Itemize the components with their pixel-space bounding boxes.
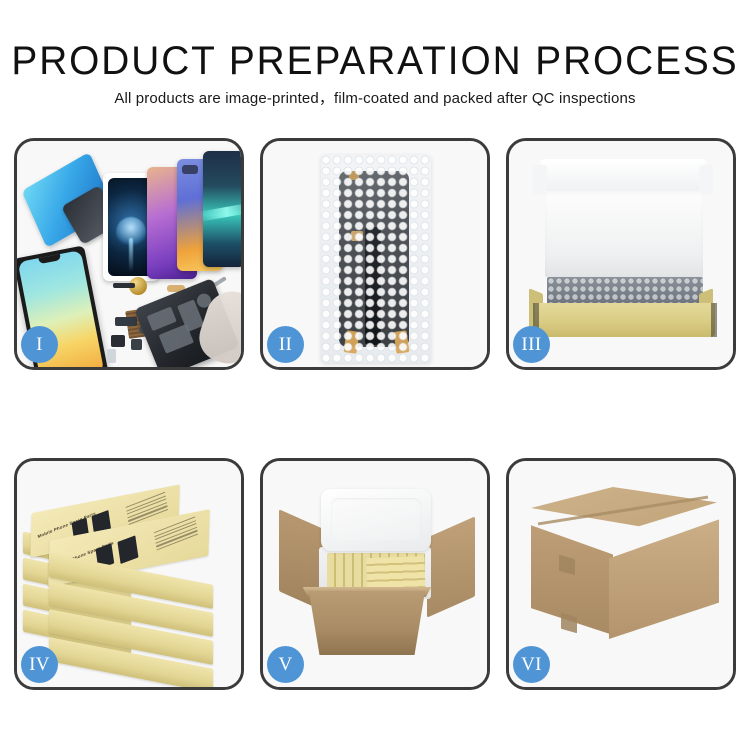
process-step-6: VI — [506, 458, 736, 690]
carton-flap-right — [427, 516, 475, 617]
box-front-panel-icon — [535, 303, 715, 337]
process-step-grid: I II — [14, 138, 736, 690]
jellyfish-icon — [116, 217, 146, 247]
process-step-1: I — [14, 138, 244, 370]
camera-module-icon — [182, 165, 198, 174]
carton-right-face — [609, 509, 719, 639]
page-subtitle: All products are image-printed，film-coat… — [0, 90, 750, 108]
step-badge-2: II — [267, 326, 304, 363]
process-step-3: III — [506, 138, 736, 370]
carton-tape-lower — [561, 613, 577, 634]
process-step-4: Mobile Phone Spare Parts Mo — [14, 458, 244, 690]
bubble-wrap-bag-icon — [321, 155, 431, 363]
box-stack: Mobile Phone Spare Parts Mo — [23, 485, 241, 675]
teal-swirl-phone-icon — [203, 151, 241, 267]
step-badge-1: I — [21, 326, 58, 363]
step-badge-6: VI — [513, 646, 550, 683]
box-spec-lines-front — [154, 516, 199, 553]
part-vibrator — [131, 339, 142, 350]
box-artwork-swatch-front-2 — [117, 535, 138, 564]
part-speaker — [111, 335, 125, 347]
shield-part — [159, 324, 194, 354]
page-title: PRODUCT PREPARATION PROCESS — [11, 40, 739, 82]
process-step-2: II — [260, 138, 490, 370]
part-sim-tray — [107, 349, 116, 363]
step-badge-4: IV — [21, 646, 58, 683]
step-badge-5: V — [267, 646, 304, 683]
box-lid-icon — [539, 159, 707, 195]
bubble-wrap-layer-icon — [547, 277, 703, 305]
carton-front-panel — [301, 591, 433, 655]
step-badge-3: III — [513, 326, 550, 363]
foam-sheet-icon — [545, 191, 703, 277]
battery-part — [147, 307, 177, 332]
foam-lid-icon — [321, 489, 431, 551]
product-preparation-process-infographic: PRODUCT PREPARATION PROCESS All products… — [0, 0, 750, 750]
part-connector — [113, 283, 135, 288]
process-step-5: V — [260, 458, 490, 690]
part-bracket — [115, 317, 137, 326]
bubble-texture — [321, 155, 431, 363]
